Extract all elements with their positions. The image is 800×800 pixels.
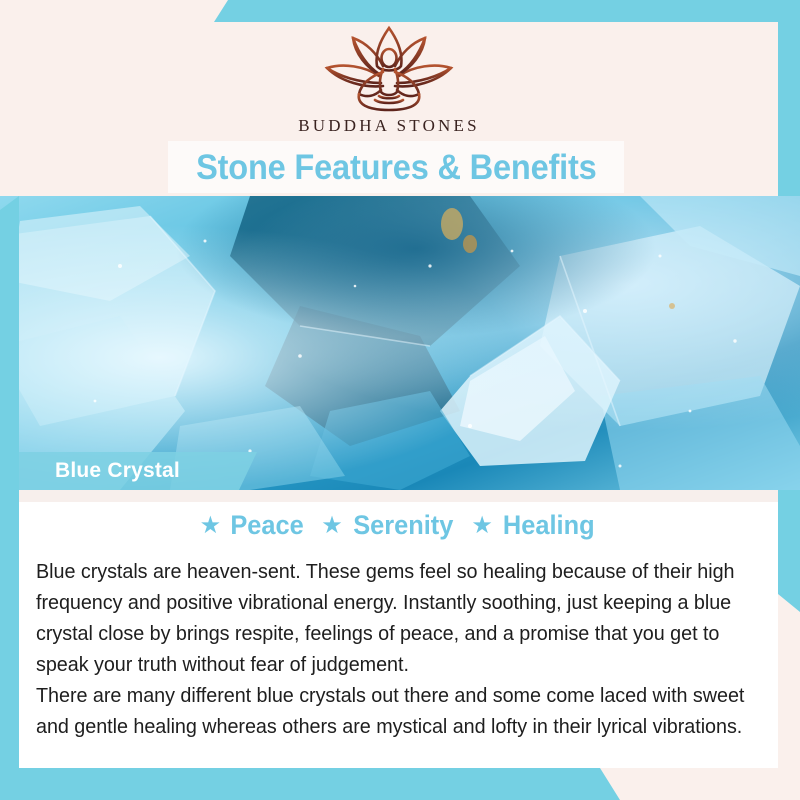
- header-section: BUDDHA STONES Stone Features & Benefits: [0, 0, 778, 196]
- bottom-cyan-band: [0, 768, 620, 800]
- blue-crystal-photo: [0, 196, 800, 490]
- top-right-cyan-band: [778, 0, 800, 196]
- bottom-band: [0, 768, 800, 800]
- brand-logo: BUDDHA STONES: [0, 22, 778, 136]
- left-cyan-strip: [0, 196, 19, 800]
- section-divider: [19, 490, 778, 502]
- description-block: Blue crystals are heaven-sent. These gem…: [36, 556, 776, 742]
- star-icon: ★: [471, 514, 493, 538]
- keyword-item: ★ Peace: [200, 512, 307, 539]
- stone-label: Blue Crystal: [19, 452, 257, 490]
- page-title: Stone Features & Benefits: [196, 150, 597, 185]
- right-cyan-tab: [778, 490, 800, 612]
- keyword-item: ★ Serenity: [321, 512, 456, 539]
- hero-image: [0, 196, 800, 490]
- description-paragraph-2: There are many different blue crystals o…: [36, 680, 750, 742]
- stone-label-text: Blue Crystal: [19, 459, 180, 483]
- keyword-label: Serenity: [353, 512, 453, 539]
- keyword-label: Peace: [230, 512, 303, 539]
- keyword-label: Healing: [503, 512, 595, 539]
- star-icon: ★: [200, 514, 222, 538]
- description-paragraph-1: Blue crystals are heaven-sent. These gem…: [36, 556, 750, 680]
- brand-name: BUDDHA STONES: [298, 116, 480, 136]
- star-icon: ★: [321, 514, 343, 538]
- title-banner: Stone Features & Benefits: [168, 141, 624, 193]
- keyword-item: ★ Healing: [471, 512, 597, 539]
- infographic-card: BUDDHA STONES Stone Features & Benefits: [0, 0, 800, 800]
- lotus-meditation-icon: [313, 22, 465, 114]
- keyword-row: ★ Peace ★ Serenity ★ Healing: [19, 512, 778, 539]
